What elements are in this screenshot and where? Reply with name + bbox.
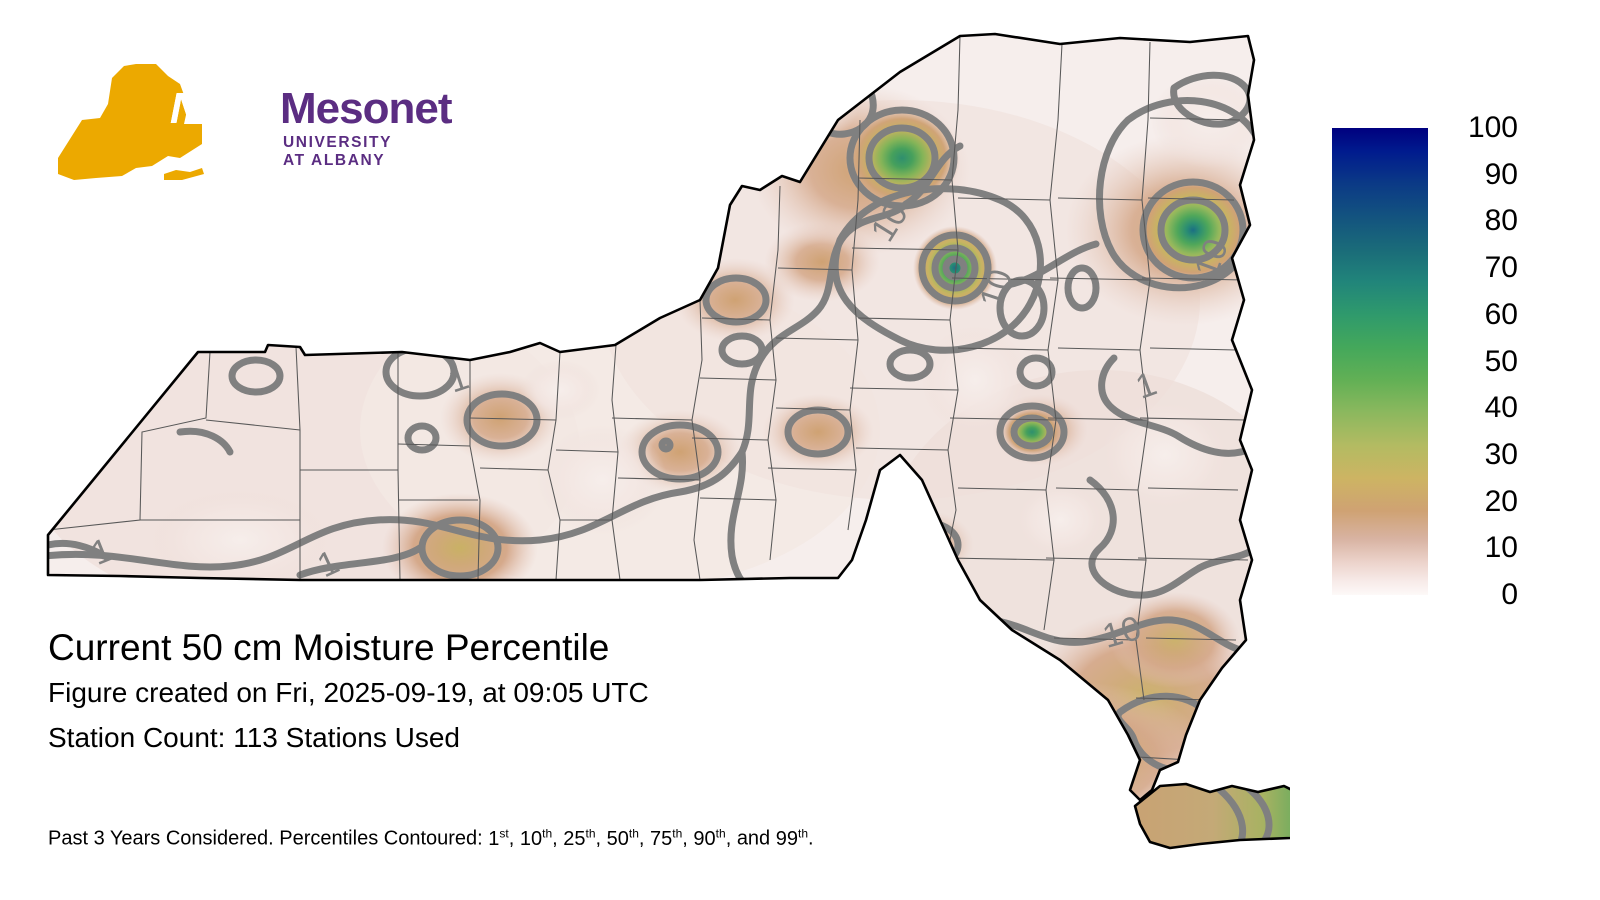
footnote-level-99: 99th: [776, 828, 808, 850]
colorbar-tick-100: 100: [1438, 113, 1518, 143]
footnote-level-1: 1st: [488, 828, 508, 850]
logo-affiliation-text: UNIVERSITY AT ALBANY: [283, 134, 392, 170]
logo-mesonet-text: Mesonet: [280, 84, 451, 134]
footnote-level-90: 90th: [693, 828, 725, 850]
colorbar-tick-labels: 1009080706050403020100: [1438, 110, 1534, 613]
colorbar-gradient: [1332, 128, 1428, 595]
station-count: Station Count: 113 Stations Used: [48, 715, 1048, 760]
nys-mesonet-logo: NYS Mesonet UNIVERSITY AT ALBANY: [52, 62, 397, 182]
colorbar-tick-50: 50: [1438, 347, 1518, 377]
contour-footnote: Past 3 Years Considered. Percentiles Con…: [48, 826, 814, 851]
footnote-level-10: 10th: [520, 828, 552, 850]
colorbar-tick-20: 20: [1438, 487, 1518, 517]
footnote-level-25: 25th: [563, 828, 595, 850]
colorbar-tick-90: 90: [1438, 160, 1518, 190]
logo-nys-text: NYS: [170, 84, 257, 134]
moisture-percentile-colorbar: 1009080706050403020100: [1310, 110, 1540, 610]
colorbar-tick-30: 30: [1438, 440, 1518, 470]
footnote-level-50: 50th: [607, 828, 639, 850]
caption-block: Current 50 cm Moisture Percentile Figure…: [48, 626, 1048, 760]
colorbar-tick-10: 10: [1438, 533, 1518, 563]
colorbar-tick-70: 70: [1438, 253, 1518, 283]
colorbar-tick-60: 60: [1438, 300, 1518, 330]
colorbar-tick-40: 40: [1438, 393, 1518, 423]
footnote-level-75: 75th: [650, 828, 682, 850]
created-timestamp: Figure created on Fri, 2025-09-19, at 09…: [48, 670, 1048, 715]
page-title: Current 50 cm Moisture Percentile: [48, 626, 1048, 670]
colorbar-tick-0: 0: [1438, 580, 1518, 610]
colorbar-tick-80: 80: [1438, 206, 1518, 236]
